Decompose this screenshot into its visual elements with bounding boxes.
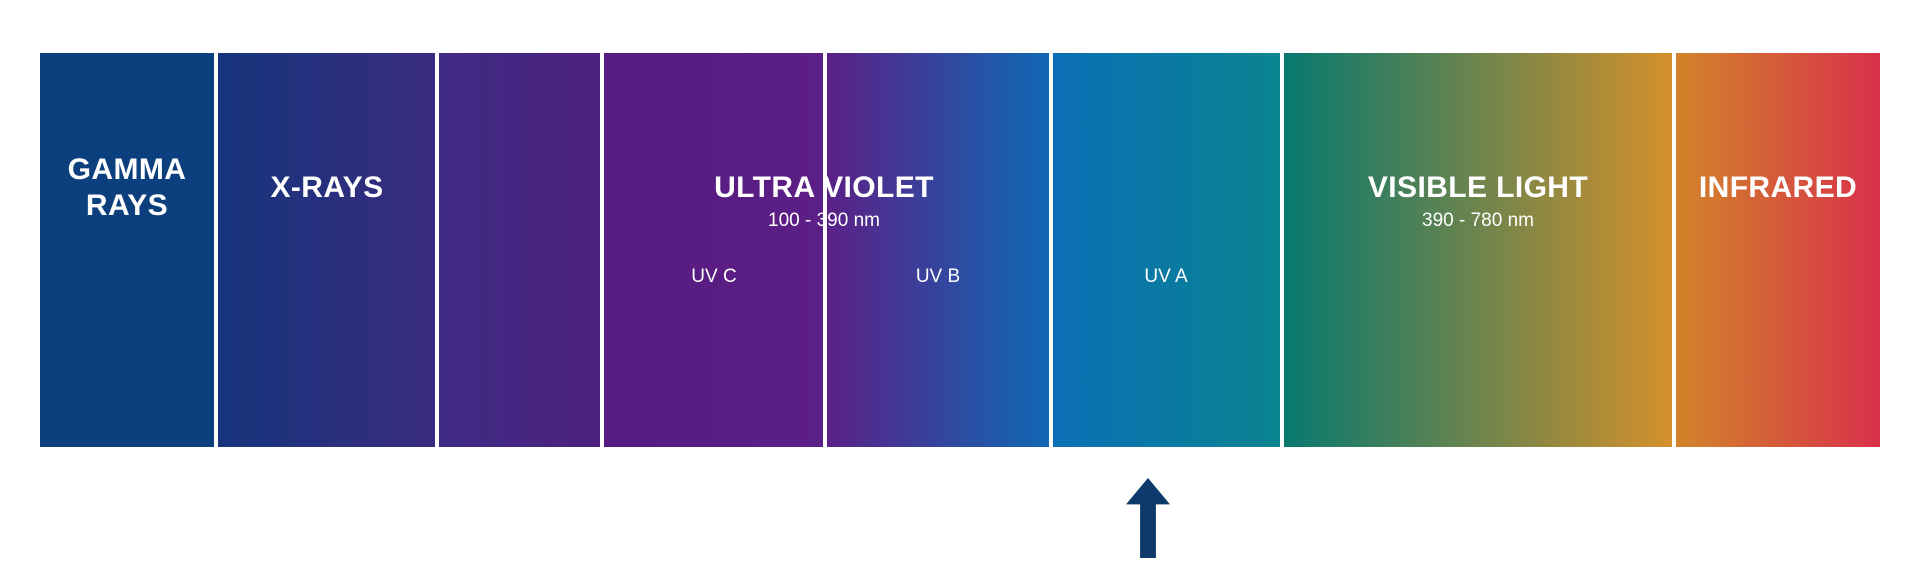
band-divider-7 — [1672, 53, 1676, 447]
band-gamma-rays — [40, 53, 214, 447]
band-divider-4 — [823, 53, 827, 447]
band-x-rays — [218, 53, 435, 447]
band-divider-3 — [600, 53, 604, 447]
band-divider-2 — [435, 53, 439, 447]
band-divider-5 — [1049, 53, 1053, 447]
band-divider-6 — [1280, 53, 1284, 447]
band-visible-light — [1284, 53, 1672, 447]
electromagnetic-spectrum-figure: GAMMA RAYSX-RAYSVISIBLE LIGHTINFRARED390… — [0, 0, 1920, 576]
band-infrared — [1676, 53, 1880, 447]
band-uv-c — [604, 53, 823, 447]
band-uv-b — [827, 53, 1049, 447]
spectrum-bar — [40, 53, 1880, 447]
band-uv-a — [1053, 53, 1280, 447]
band-divider-1 — [214, 53, 218, 447]
band-uv-far — [439, 53, 600, 447]
uv-a-pointer-arrow — [1126, 478, 1170, 558]
